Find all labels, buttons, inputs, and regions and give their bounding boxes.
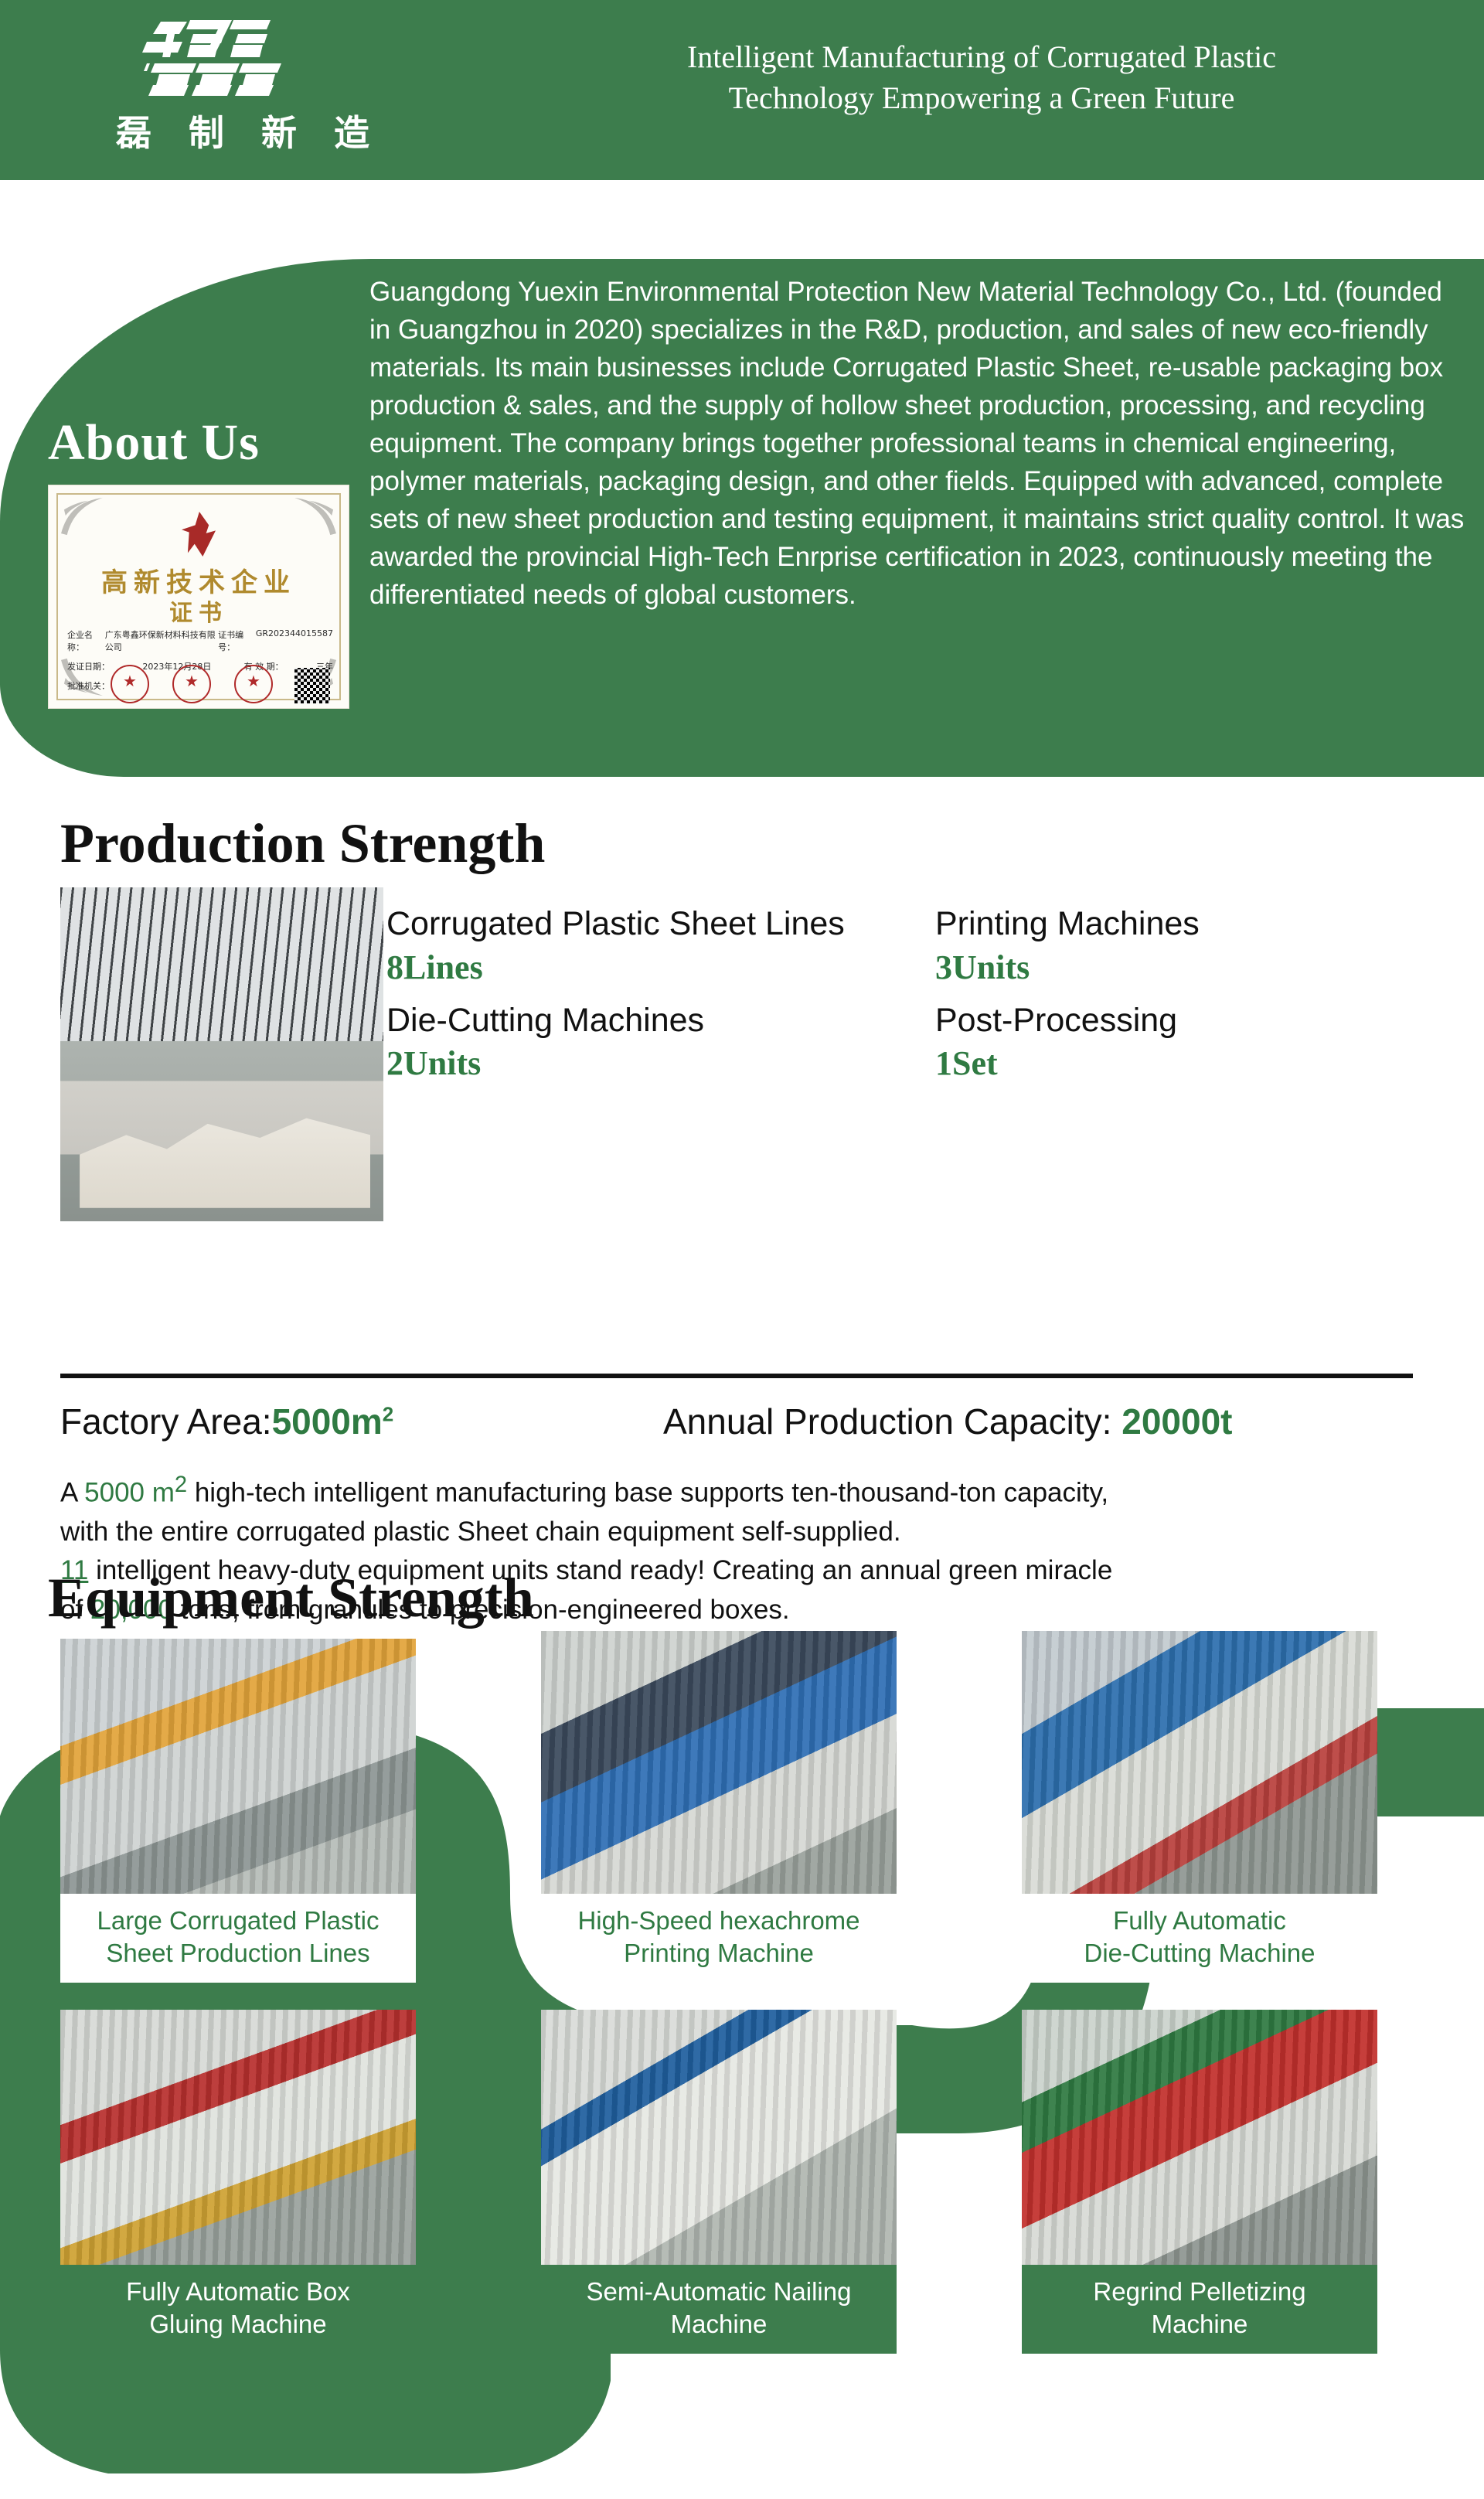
about-section: About Us 高新技术企业 证书 企业名称： 广东粤鑫环保新材料科技有限公司… <box>0 259 1484 777</box>
official-seal-icon <box>172 665 211 703</box>
photo-texture <box>60 1639 416 1894</box>
equipment-caption: High-Speed hexachrome Printing Machine <box>541 1894 897 1983</box>
equipment-photo <box>541 1631 897 1894</box>
production-stat: Post-Processing 1Set <box>935 1001 1469 1084</box>
equipment-card[interactable]: High-Speed hexachrome Printing Machine <box>541 1631 897 1983</box>
equipment-caption-line: Machine <box>546 2308 892 2341</box>
equipment-caption: Semi-Automatic Nailing Machine <box>541 2265 897 2354</box>
production-stat: Printing Machines 3Units <box>935 904 1469 987</box>
equipment-caption-line: Gluing Machine <box>65 2308 411 2341</box>
equipment-caption: Regrind Pelletizing Machine <box>1022 2265 1377 2354</box>
production-description-line: with the entire corrugated plastic Sheet… <box>60 1513 1444 1551</box>
corrugated-logo-icon <box>116 14 286 107</box>
equipment-caption-line: High-Speed hexachrome <box>546 1905 892 1937</box>
certificate-image: 高新技术企业 证书 企业名称： 广东粤鑫环保新材料科技有限公司 证书编号： GR… <box>48 485 349 709</box>
section-divider <box>60 1374 1413 1378</box>
production-stats-grid: Corrugated Plastic Sheet Lines 8Lines Pr… <box>386 904 1469 1083</box>
production-stat-label: Die-Cutting Machines <box>386 1001 920 1041</box>
equipment-caption-line: Fully Automatic <box>1026 1905 1373 1937</box>
certificate-company-label: 企业名称： <box>67 628 105 653</box>
equipment-caption-line: Machine <box>1026 2308 1373 2341</box>
area-capacity-row: Factory Area:5000m2 Annual Production Ca… <box>60 1401 1436 1442</box>
equipment-strength-title: Equipment Strength <box>48 1566 534 1630</box>
brand-logo-chinese: 磊 制 新 造 <box>116 115 348 151</box>
equipment-card[interactable]: Fully Automatic Die-Cutting Machine <box>1022 1631 1377 1983</box>
production-stat: Die-Cutting Machines 2Units <box>386 1001 920 1084</box>
qr-code-icon <box>294 668 330 703</box>
annual-capacity: Annual Production Capacity: 20000t <box>663 1401 1232 1442</box>
annual-capacity-label: Annual Production Capacity: <box>663 1401 1111 1442</box>
certificate-field-row: 企业名称： 广东粤鑫环保新材料科技有限公司 证书编号： GR2023440155… <box>67 628 333 653</box>
certificate-number-value: GR202344015587 <box>256 628 333 653</box>
equipment-caption-line: Sheet Production Lines <box>65 1937 411 1970</box>
equipment-photo <box>1022 2010 1377 2265</box>
production-description-line: A 5000 m2 high-tech intelligent manufact… <box>60 1469 1444 1513</box>
production-stat-label: Corrugated Plastic Sheet Lines <box>386 904 920 945</box>
equipment-card[interactable]: Fully Automatic Box Gluing Machine <box>60 2010 416 2354</box>
equipment-caption-line: Large Corrugated Plastic <box>65 1905 411 1937</box>
production-stat-value: 8Lines <box>386 948 920 987</box>
desc-text: high-tech intelligent manufacturing base… <box>187 1478 1108 1508</box>
certificate-authority-label: 批准机关： <box>67 679 110 692</box>
equipment-caption-line: Printing Machine <box>546 1937 892 1970</box>
production-stat-value: 1Set <box>935 1044 1469 1083</box>
equipment-photo <box>541 2010 897 2265</box>
about-title: About Us <box>48 414 342 472</box>
about-body-text: Guangdong Yuexin Environmental Protectio… <box>369 273 1467 614</box>
desc-highlight-superscript: 2 <box>175 1473 187 1497</box>
factory-photo-image <box>60 887 383 1221</box>
production-stat-value: 2Units <box>386 1044 920 1083</box>
equipment-photo <box>60 1639 416 1894</box>
equipment-caption: Fully Automatic Box Gluing Machine <box>60 2265 416 2354</box>
annual-capacity-value: 20000t <box>1122 1401 1232 1442</box>
equipment-caption-line: Fully Automatic Box <box>65 2276 411 2308</box>
photo-texture <box>60 2010 416 2265</box>
tagline-line-1: Intelligent Manufacturing of Corrugated … <box>541 37 1422 78</box>
equipment-caption-line: Semi-Automatic Nailing <box>546 2276 892 2308</box>
equipment-caption-line: Die-Cutting Machine <box>1026 1937 1373 1970</box>
factory-area-label: Factory Area: <box>60 1401 272 1442</box>
photo-texture <box>541 2010 897 2265</box>
official-seal-icon <box>111 665 149 703</box>
certificate-company-value: 广东粤鑫环保新材料科技有限公司 <box>105 628 218 653</box>
factory-area: Factory Area:5000m2 <box>60 1401 393 1442</box>
desc-highlight-area: 5000 m <box>84 1478 175 1508</box>
certificate-issue-label: 发证日期： <box>67 660 110 672</box>
equipment-photo <box>60 2010 416 2265</box>
equipment-photo <box>1022 1631 1377 1894</box>
production-stat-label: Post-Processing <box>935 1001 1469 1041</box>
factory-area-superscript: 2 <box>383 1403 393 1426</box>
equipment-card[interactable]: Semi-Automatic Nailing Machine <box>541 2010 897 2354</box>
factory-photo <box>60 887 383 1221</box>
production-stat: Corrugated Plastic Sheet Lines 8Lines <box>386 904 920 987</box>
factory-area-value: 5000m <box>272 1401 383 1442</box>
production-strength-title: Production Strength <box>60 812 545 876</box>
equipment-section: Large Corrugated Plastic Sheet Productio… <box>0 1639 1484 2499</box>
certificate-corner-ornament-icon <box>60 496 104 536</box>
production-stat-label: Printing Machines <box>935 904 1469 945</box>
certificate-number-label: 证书编号： <box>218 628 256 653</box>
tagline-line-2: Technology Empowering a Green Future <box>541 78 1422 119</box>
equipment-card[interactable]: Large Corrugated Plastic Sheet Productio… <box>60 1639 416 1983</box>
header-tagline: Intelligent Manufacturing of Corrugated … <box>541 37 1422 119</box>
photo-texture <box>1022 2010 1377 2265</box>
official-seal-icon <box>234 665 273 703</box>
certificate-subtitle: 证书 <box>49 594 349 628</box>
brand-logo: 磊 制 新 造 <box>116 14 348 169</box>
photo-texture <box>1022 1631 1377 1894</box>
equipment-card[interactable]: Regrind Pelletizing Machine <box>1022 2010 1377 2354</box>
page-header: 磊 制 新 造 Intelligent Manufacturing of Cor… <box>0 0 1484 180</box>
certificate-seals <box>111 665 273 703</box>
certificate-corner-ornament-icon <box>293 496 338 536</box>
equipment-caption: Fully Automatic Die-Cutting Machine <box>1022 1894 1377 1983</box>
desc-text: A <box>60 1478 84 1508</box>
equipment-caption: Large Corrugated Plastic Sheet Productio… <box>60 1894 416 1983</box>
equipment-caption-line: Regrind Pelletizing <box>1026 2276 1373 2308</box>
photo-texture <box>541 1631 897 1894</box>
production-stat-value: 3Units <box>935 948 1469 987</box>
